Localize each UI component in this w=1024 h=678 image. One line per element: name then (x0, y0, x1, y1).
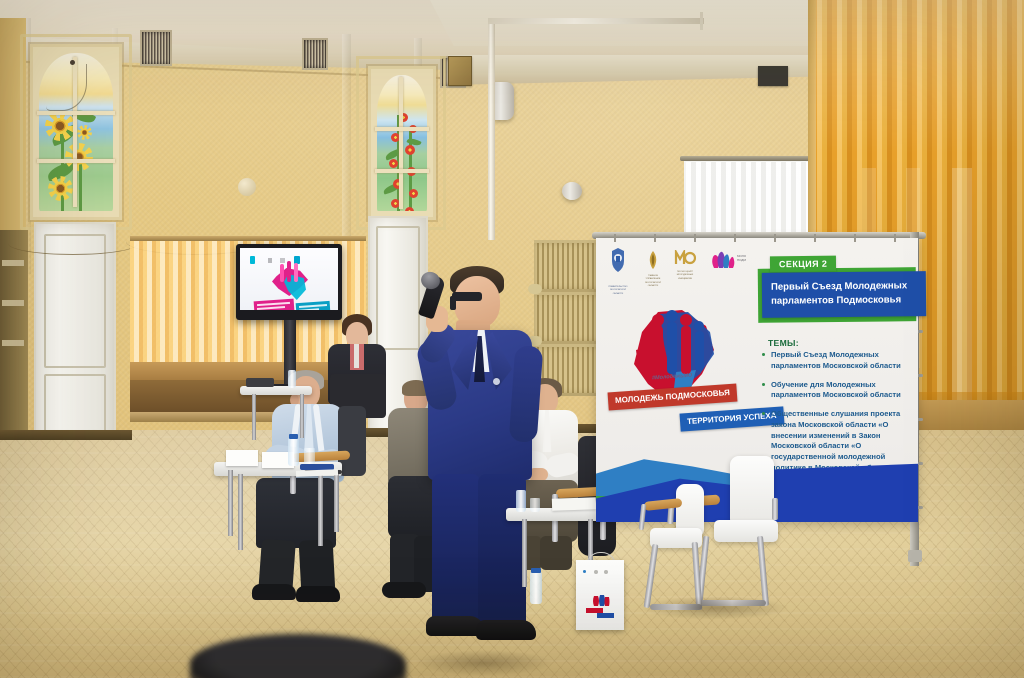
door-left[interactable] (34, 222, 116, 444)
eyeglasses (452, 292, 482, 301)
logo-caption-3: ГБУ МО ЦЕНТР МОЛОДЕЖНЫХ ИНИЦИАТИВ (674, 271, 696, 281)
side-table-left-leg-2 (318, 474, 323, 546)
display-screen (240, 248, 338, 310)
radiator-section-1 (534, 240, 600, 292)
wall-mounted-box (758, 66, 788, 86)
slide-tag-text-4 (299, 308, 319, 310)
gold-emblem-logo: ГЛАВНОЕ УПРАВЛЕНИЕ МОСКОВСКОЙ ОБЛАСТИ (644, 250, 662, 278)
banner-headline: Первый Съезд Молодежных парламентов Подм… (762, 271, 926, 318)
photo-scene: ПРАВИТЕЛЬСТВО МОСКОВСКОЙ ОБЛАСТИ ГЛАВНОЕ… (0, 0, 1024, 678)
wall-vent-grille-2 (302, 38, 328, 70)
water-bottle-1 (288, 438, 299, 466)
slide-logo-tiny-3 (280, 258, 285, 263)
rear-table-leg-1 (252, 394, 256, 440)
side-table-left-leg-3 (228, 470, 233, 536)
name-card-1 (226, 450, 258, 466)
mo-monogram-logo: ГБУ МО ЦЕНТР МОЛОДЕЖНЫХ ИНИЦИАТИВ (674, 250, 696, 278)
paper-sheet-2 (552, 497, 596, 511)
frame-foot (908, 550, 922, 562)
banner-section-label: СЕКЦИЯ 2 (770, 256, 836, 273)
youth-of-podmoskovye-logo: МОЛОДЕЖЬ ПОДМОСКОВЬЯ (706, 248, 746, 274)
banner-themes-label: ТЕМЫ: (768, 338, 799, 348)
eyeglasses-temple (450, 296, 456, 310)
banner-bullet-1: Первый Съезд Молодежных парламентов Моск… (762, 350, 914, 372)
gift-bag-dot-2 (594, 570, 598, 574)
gift-bag (576, 560, 624, 630)
water-bottle-3 (516, 490, 526, 512)
banner-bullet-3: Общественные слушания проекта закона Мос… (762, 409, 914, 474)
ceiling-pipe-horizontal (488, 18, 704, 24)
slide-logo-tiny-2 (268, 258, 272, 263)
slide-figure-1 (280, 264, 284, 282)
side-table-left-leg-4 (334, 470, 339, 532)
gift-bag-dot-1 (583, 570, 586, 573)
slide-figure-3 (294, 263, 298, 282)
back-window-rod (680, 156, 828, 161)
rear-table-leg-2 (300, 394, 304, 438)
shoe-left (252, 584, 296, 600)
lapel-pin (493, 378, 500, 385)
shelf-1 (2, 260, 24, 266)
speaker-floor-shadow (414, 650, 554, 676)
radiator-section-2 (534, 292, 600, 344)
shoe-right-speaker (476, 620, 536, 640)
side-table-left-leg-1 (238, 474, 243, 550)
garland-string-1 (8, 232, 138, 255)
ceiling-hook (700, 12, 703, 30)
wall-sensor (238, 178, 256, 196)
slide-logo-tiny-1 (250, 256, 255, 264)
banner-themes-list: Первый Съезд Молодежных парламентов Моск… (762, 350, 914, 482)
banner-bullet-2: Обучение для Молодежных парламентов Моск… (762, 380, 914, 402)
chair-back-dark-2 (338, 406, 366, 476)
water-bottle-floor (530, 572, 542, 604)
wall-vent-grille-1 (140, 30, 172, 66)
curtain-highlight-1 (952, 168, 972, 430)
logo-caption-2: ГЛАВНОЕ УПРАВЛЕНИЕ МОСКОВСКОЙ ОБЛАСТИ (644, 275, 662, 288)
baseboard-left (0, 430, 132, 440)
trousers (256, 478, 336, 548)
svg-text:ПОДМОСКОВЬЯ: ПОДМОСКОВЬЯ (737, 258, 746, 262)
wall-pipe-vertical (488, 20, 495, 240)
wall-mounted-display[interactable] (236, 244, 342, 320)
bottle-cap-floor (531, 568, 541, 573)
red-flower-mural-outer-frame (356, 56, 446, 230)
wall-plaque (448, 56, 472, 86)
shelf-3 (2, 340, 24, 346)
government-moscow-region-crest-logo: ПРАВИТЕЛЬСТВО МОСКОВСКОЙ ОБЛАСТИ (608, 246, 628, 280)
slide-figure-2 (287, 261, 291, 282)
projector-device (246, 378, 274, 387)
side-table-right-leg-1 (522, 519, 527, 587)
shoe-right (296, 586, 340, 602)
gift-bag-logo (584, 594, 616, 618)
water-bottle-2 (288, 370, 296, 388)
drinking-glass-2 (530, 498, 540, 512)
chair-floor-shadow (640, 596, 790, 620)
drinking-glass-1 (304, 448, 315, 465)
trouser-leg-left (432, 474, 480, 622)
bottle-cap-1 (289, 434, 298, 439)
gift-bag-dot-3 (604, 570, 608, 574)
wall-speaker-round (562, 182, 582, 200)
stage-curtain-rod (130, 236, 366, 241)
shelf-2 (2, 300, 24, 306)
radiator-pipe-1 (528, 284, 542, 294)
wall-speaker (492, 82, 514, 120)
